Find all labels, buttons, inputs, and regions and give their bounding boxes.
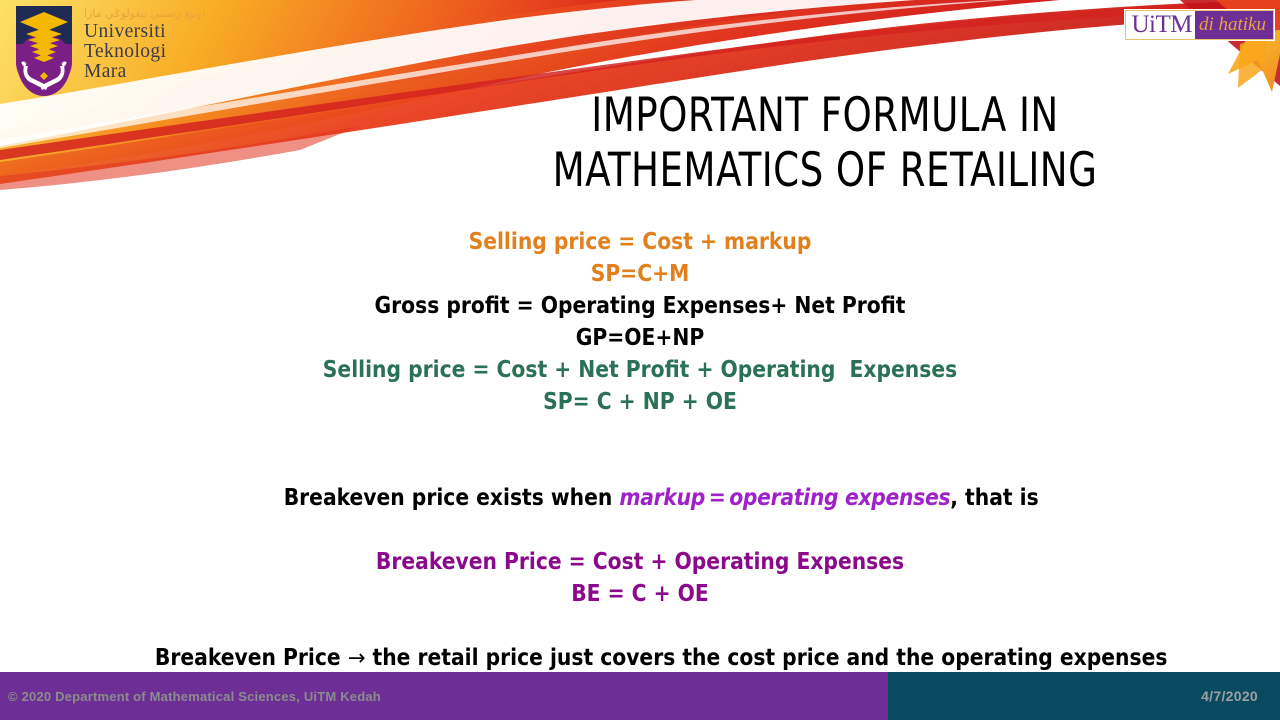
formula-blank-line [40, 417, 1240, 449]
logo-line-mara: Mara [84, 62, 205, 82]
footer-right-band: 4/7/2020 [888, 672, 1280, 720]
breakeven-definition-before: Breakeven Price [155, 643, 348, 671]
logo-wordmark: Universiti Teknologi Mara [84, 22, 205, 82]
breakeven-condition-after: , that is [950, 483, 1038, 511]
formula-line-selling-price-markup: Selling price = Cost + markup [64, 225, 1216, 257]
footer-copyright: © 2020 Department of Mathematical Scienc… [8, 689, 381, 704]
formula-line-sp-c-np-oe: SP= C + NP + OE [64, 385, 1216, 417]
formula-line-sp-c-m: SP=C+M [64, 257, 1216, 289]
formula-line-breakeven-price: Breakeven Price = Cost + Operating Expen… [64, 545, 1216, 577]
badge-tagline-text: di hatiku [1195, 11, 1273, 39]
logo-jawi-script: اونيڠ رسيتي تيڠولوݢي مارا [84, 8, 205, 22]
formula-line-gp-oe-np: GP=OE+NP [64, 321, 1216, 353]
page-title: IMPORTANT FORMULA IN MATHEMATICS OF RETA… [477, 88, 1172, 198]
logo-line-teknologi: Teknologi [84, 42, 205, 62]
footer-date: 4/7/2020 [1201, 688, 1258, 704]
footer-left-band: © 2020 Department of Mathematical Scienc… [0, 672, 888, 720]
badge-brand-text: UiTM [1126, 11, 1195, 39]
uitm-logo: اونيڠ رسيتي تيڠولوݢي مارا Universiti Tek… [12, 4, 262, 104]
slide-footer: © 2020 Department of Mathematical Scienc… [0, 672, 1280, 720]
formula-line-selling-price-np-oe: Selling price = Cost + Net Profit + Oper… [64, 353, 1216, 385]
breakeven-condition-emphasis: markup = operating expenses [619, 483, 950, 511]
formula-line-gross-profit: Gross profit = Operating Expenses+ Net P… [64, 289, 1216, 321]
logo-line-universiti: Universiti [84, 22, 205, 42]
formula-line-breakeven-condition: Breakeven price exists when markup = ope… [64, 449, 1216, 545]
right-arrow-icon: → [348, 646, 366, 671]
breakeven-definition-after: the retail price just covers the cost pr… [365, 643, 1167, 671]
formula-line-be-c-oe: BE = C + OE [64, 577, 1216, 609]
uitm-shield-icon [12, 4, 76, 102]
breakeven-condition-before: Breakeven price exists when [284, 483, 620, 511]
formula-list: Selling price = Cost + markup SP=C+M Gro… [40, 225, 1240, 720]
uitm-di-hatiku-badge: UiTM di hatiku [1125, 10, 1274, 40]
slide-canvas: اونيڠ رسيتي تيڠولوݢي مارا Universiti Tek… [0, 0, 1280, 720]
